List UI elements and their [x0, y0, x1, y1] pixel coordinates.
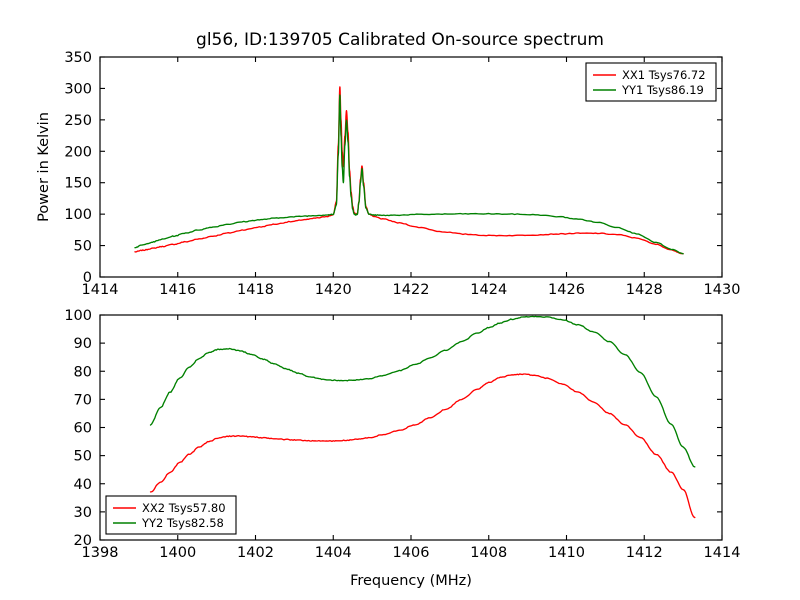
x-tick-label: 1402 [237, 545, 274, 561]
x-tick-label: 1424 [470, 282, 507, 298]
x-tick-label: 1404 [315, 545, 352, 561]
x-tick-label: 1414 [704, 545, 741, 561]
series-line-2 [151, 316, 695, 467]
legend: XX1 Tsys76.72YY1 Tsys86.19 [586, 63, 716, 101]
legend-label: XX1 Tsys76.72 [622, 68, 706, 82]
x-tick-label: 1426 [548, 282, 585, 298]
y-tick-label: 300 [64, 81, 92, 97]
top-panel: 1414141614181420142214241426142814300501… [36, 50, 740, 298]
y-tick-label: 200 [64, 144, 92, 160]
y-tick-label: 90 [74, 336, 92, 352]
y-tick-label: 250 [64, 113, 92, 129]
y-tick-label: 100 [64, 308, 92, 324]
y-tick-label: 80 [74, 364, 92, 380]
y-tick-label: 50 [74, 449, 92, 465]
x-axis-label: Frequency (MHz) [350, 573, 472, 589]
x-tick-label: 1420 [315, 282, 352, 298]
y-tick-label: 150 [64, 176, 92, 192]
legend: XX2 Tsys57.80YY2 Tsys82.58 [106, 496, 236, 534]
y-tick-label: 40 [74, 477, 92, 493]
y-tick-label: 0 [83, 270, 92, 286]
x-tick-label: 1410 [548, 545, 585, 561]
legend-label: YY2 Tsys82.58 [141, 516, 224, 530]
x-tick-label: 1406 [393, 545, 430, 561]
bottom-panel: 1398140014021404140614081410141214142030… [64, 308, 740, 589]
y-tick-label: 60 [74, 421, 92, 437]
x-tick-label: 1430 [704, 282, 741, 298]
y-tick-label: 50 [74, 239, 92, 255]
x-tick-label: 1412 [626, 545, 663, 561]
y-tick-label: 70 [74, 392, 92, 408]
figure-canvas: gl56, ID:139705 Calibrated On-source spe… [0, 0, 800, 600]
x-tick-label: 1400 [159, 545, 196, 561]
spectrum-plot-svg: 1414141614181420142214241426142814300501… [0, 0, 800, 600]
x-tick-label: 1428 [626, 282, 663, 298]
y-tick-label: 20 [74, 533, 92, 549]
x-tick-label: 1418 [237, 282, 274, 298]
y-axis-label: Power in Kelvin [36, 112, 52, 222]
x-tick-label: 1422 [393, 282, 430, 298]
y-tick-label: 350 [64, 50, 92, 66]
series-line-2 [135, 95, 683, 254]
x-tick-label: 1416 [159, 282, 196, 298]
y-tick-label: 100 [64, 207, 92, 223]
x-tick-label: 1408 [470, 545, 507, 561]
legend-label: YY1 Tsys86.19 [621, 83, 704, 97]
series-line-1 [135, 87, 683, 254]
legend-label: XX2 Tsys57.80 [142, 501, 226, 515]
y-tick-label: 30 [74, 505, 92, 521]
